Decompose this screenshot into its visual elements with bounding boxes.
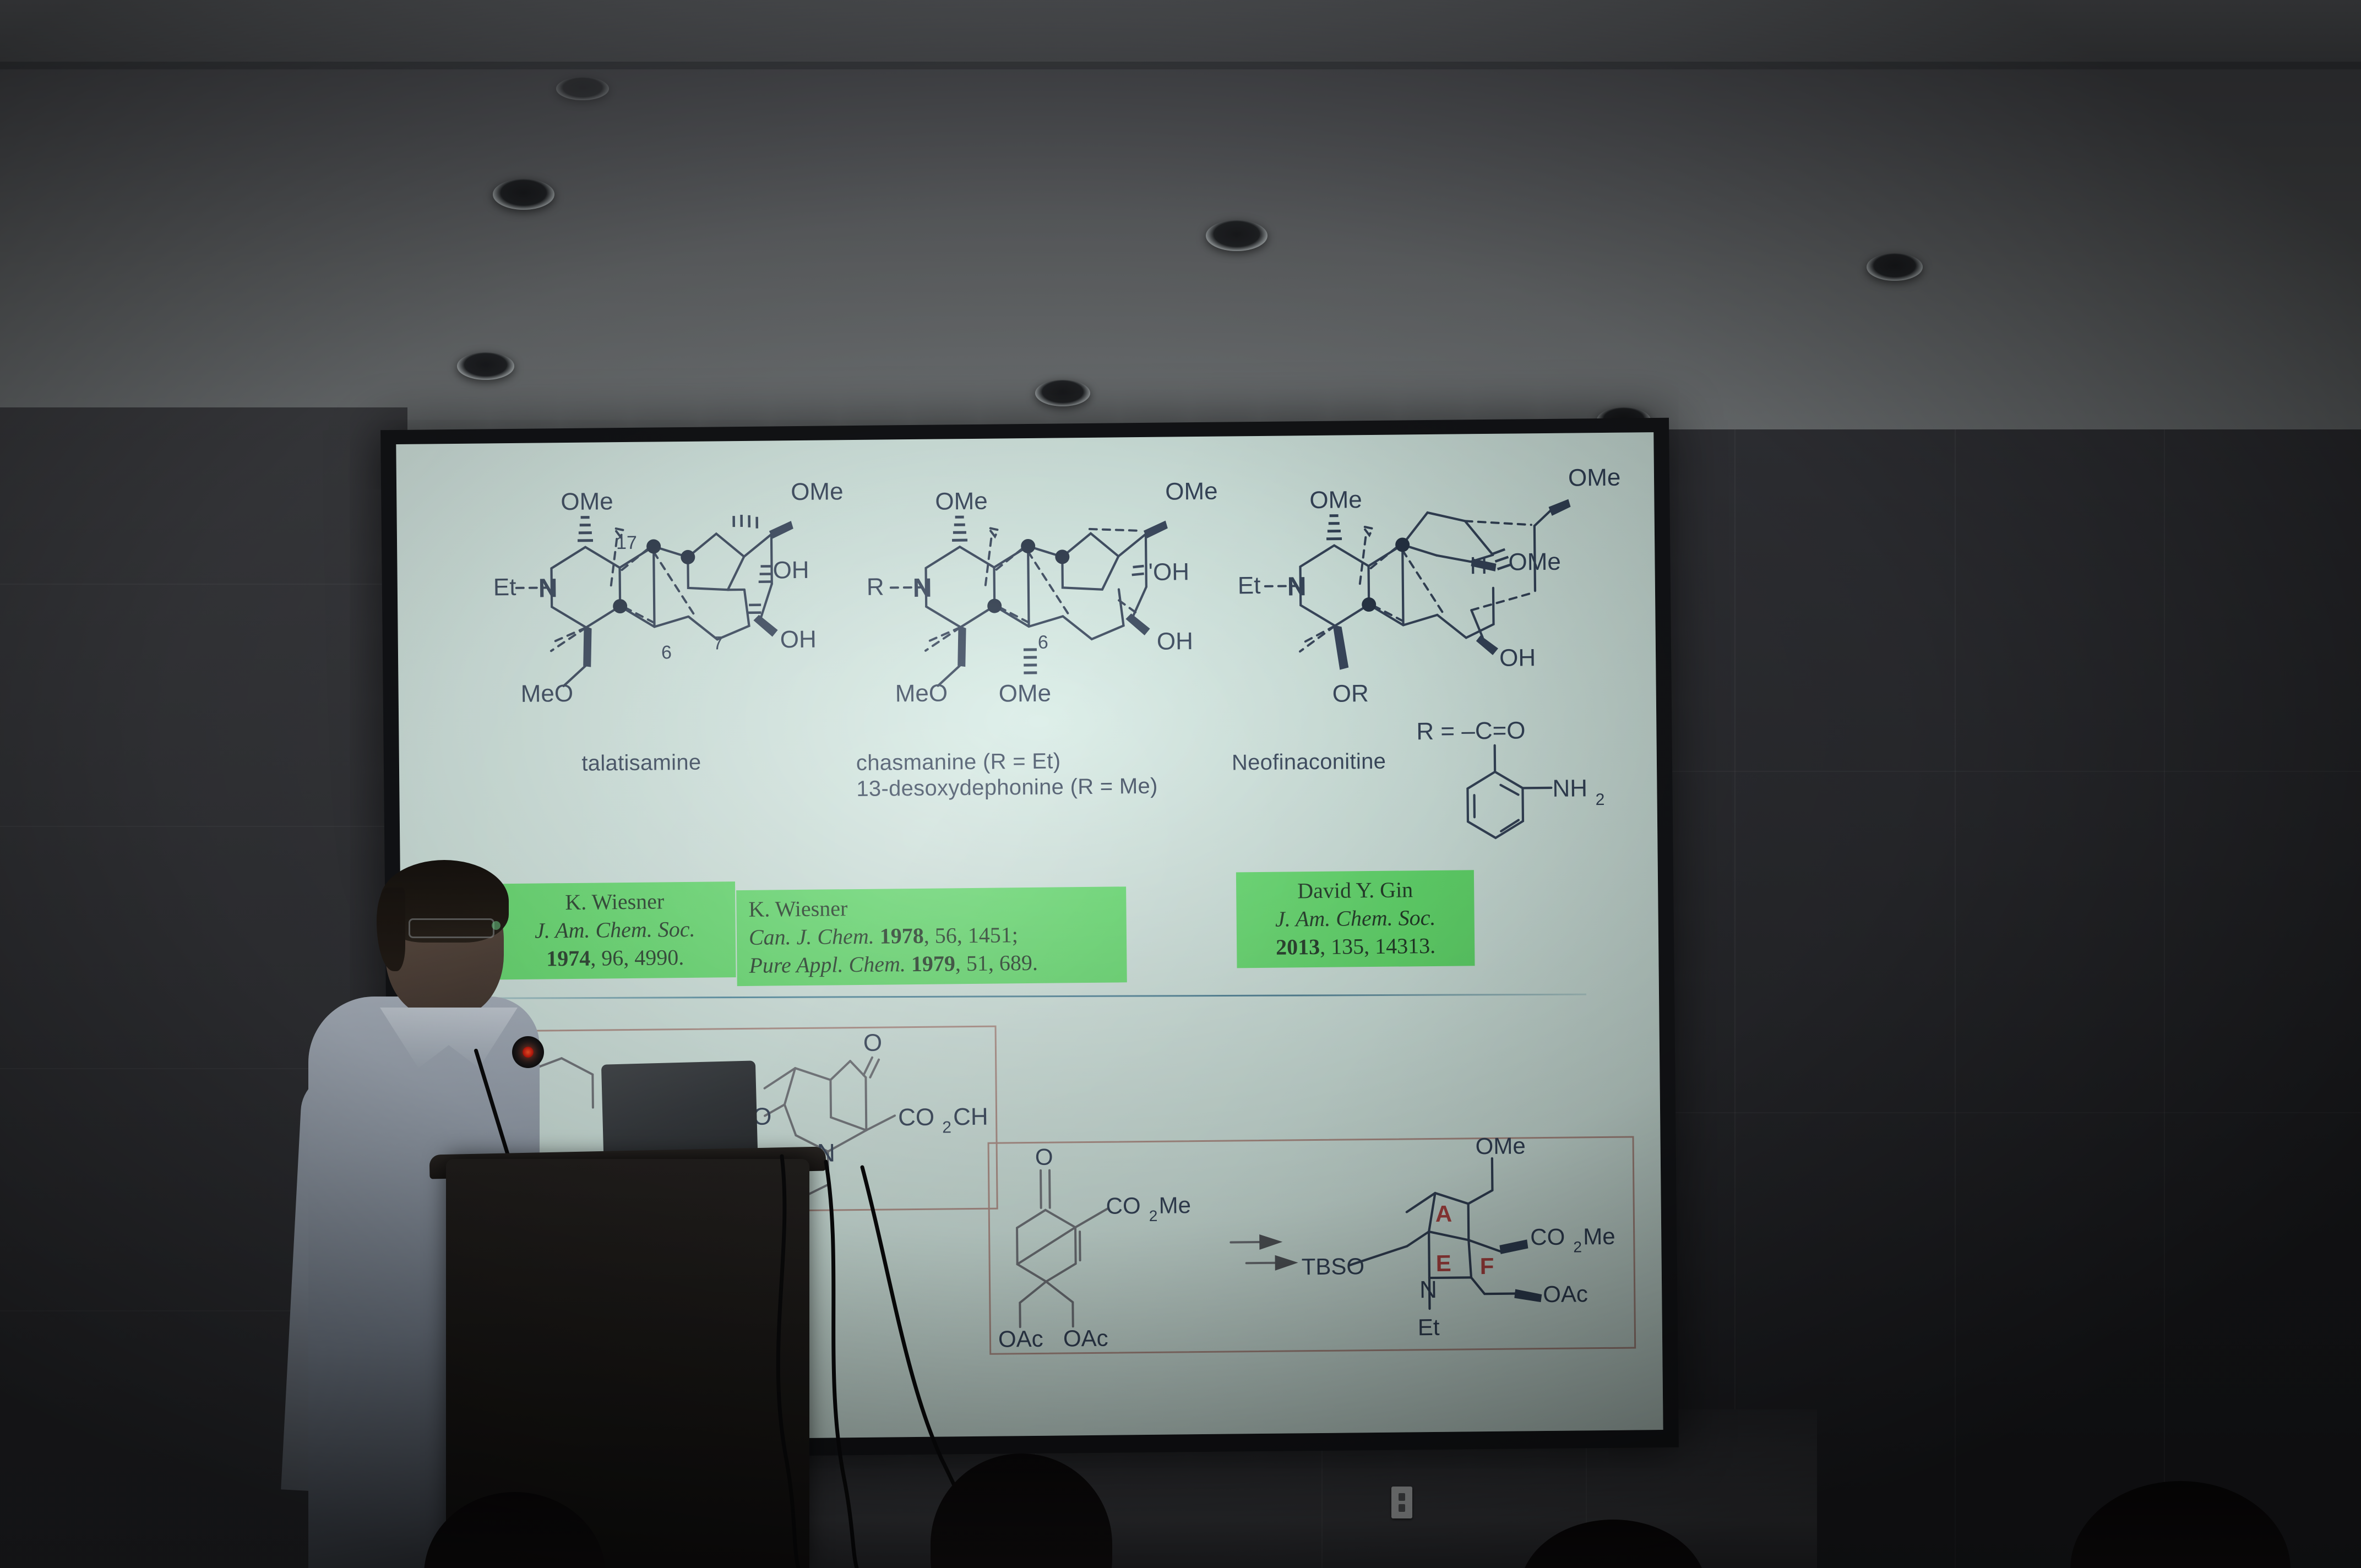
- svg-text:MeO: MeO: [520, 680, 573, 707]
- power-outlet-icon: [1391, 1487, 1412, 1518]
- ceiling-downlight-icon: [556, 77, 609, 100]
- svg-text:Et: Et: [493, 574, 516, 601]
- svg-text:OMe: OMe: [998, 680, 1051, 707]
- svg-text:CO: CO: [898, 1104, 934, 1131]
- citation-2-year-1: 1978: [879, 923, 923, 949]
- ring-label-E: E: [1435, 1250, 1451, 1276]
- svg-text:N: N: [1287, 572, 1307, 601]
- ceiling-downlight-icon: [1206, 220, 1267, 251]
- citation-1-page: 4990.: [634, 945, 684, 970]
- ceiling-downlight-icon: [1035, 380, 1090, 406]
- citation-2-page-2: 689.: [999, 950, 1038, 975]
- citation-3-year: 2013: [1276, 934, 1320, 960]
- svg-text:7: 7: [713, 633, 723, 654]
- svg-text:OMe: OMe: [1508, 548, 1561, 576]
- svg-text:CO: CO: [1106, 1193, 1140, 1219]
- citation-box-3: David Y. Gin J. Am. Chem. Soc. 2013, 135…: [1236, 870, 1475, 968]
- structure-talatisamine: Et N OMe OMe OH OH MeO 17 6 7 talatisami…: [485, 473, 840, 785]
- citation-3-author: David Y. Gin: [1248, 875, 1462, 906]
- citation-1-year: 1974: [546, 945, 590, 971]
- svg-text:OH: OH: [1157, 628, 1193, 655]
- svg-text:TBSO: TBSO: [1302, 1253, 1365, 1280]
- svg-text:CO: CO: [1530, 1224, 1565, 1250]
- svg-text:N: N: [538, 574, 558, 603]
- citation-3-volume: 135: [1331, 934, 1364, 959]
- svg-text:OMe: OMe: [1165, 478, 1218, 505]
- chasmanine-label-line2: 13-desoxydephonine (R = Me): [856, 773, 1209, 802]
- citation-2-page-1: 1451;: [967, 922, 1018, 948]
- svg-text:O: O: [1035, 1144, 1053, 1170]
- molecule-name-talatisamine: talatisamine: [520, 749, 763, 777]
- structure-neofinaconitine: Et N OMe OMe OMe H OH OR Neofinaconitine: [1233, 471, 1622, 805]
- citation-2-journal-2: Pure Appl. Chem.: [749, 951, 906, 978]
- svg-text:2: 2: [1595, 791, 1604, 809]
- svg-text:'OH: 'OH: [1148, 558, 1189, 586]
- svg-text:OAc: OAc: [1063, 1325, 1108, 1352]
- citation-3-journal: J. Am. Chem. Soc.: [1248, 903, 1462, 934]
- svg-text:Me: Me: [1583, 1223, 1615, 1250]
- svg-text:2: 2: [1573, 1238, 1582, 1255]
- svg-text:Me: Me: [1158, 1192, 1191, 1218]
- svg-text:CH: CH: [953, 1103, 988, 1131]
- svg-text:MeO: MeO: [895, 679, 948, 707]
- svg-text:OMe: OMe: [1309, 486, 1362, 514]
- chasmanine-skeleton: R N OMe OMe 'OH OH MeO OMe 6: [859, 473, 1214, 785]
- svg-text:H: H: [1470, 552, 1487, 579]
- citation-1-author: K. Wiesner: [506, 887, 723, 917]
- svg-text:O: O: [863, 1030, 883, 1057]
- svg-text:OR: OR: [1332, 680, 1369, 707]
- citation-2-volume-2: 51: [966, 950, 988, 975]
- citation-3-page: 14313.: [1375, 933, 1435, 959]
- r-group-definition: R = –C=O NH 2: [1412, 714, 1623, 864]
- citation-2-journal-1: Can. J. Chem.: [749, 924, 874, 950]
- citation-2-year-2: 1979: [911, 951, 955, 976]
- svg-text:OAc: OAc: [1543, 1281, 1588, 1307]
- svg-text:17: 17: [616, 532, 637, 553]
- slide-divider-line: [436, 994, 1586, 999]
- structure-chasmanine: R N OMe OMe 'OH OH MeO OMe 6 chasmanine …: [859, 473, 1215, 796]
- svg-text:OMe: OMe: [1475, 1136, 1525, 1159]
- svg-text:OH: OH: [773, 557, 809, 584]
- svg-text:OMe: OMe: [561, 488, 613, 515]
- citation-2-author: K. Wiesner: [748, 892, 1114, 924]
- svg-text:OMe: OMe: [935, 488, 988, 515]
- ring-label-A: A: [1435, 1201, 1452, 1227]
- ceiling-downlight-icon: [493, 179, 554, 210]
- citation-2-volume-1: 56: [934, 923, 956, 948]
- svg-text:NH: NH: [1552, 775, 1587, 802]
- citation-box-2: K. Wiesner Can. J. Chem. 1978, 56, 1451;…: [736, 886, 1127, 986]
- svg-text:OAc: OAc: [998, 1326, 1043, 1352]
- alkaloid-structures-row: Et N OMe OMe OH OH MeO 17 6 7 talatisami…: [396, 443, 1658, 874]
- citation-1-volume: 96: [601, 945, 623, 970]
- microphone-led-indicator: [523, 1047, 534, 1058]
- svg-text:OH: OH: [780, 626, 817, 654]
- svg-text:6: 6: [661, 642, 672, 663]
- ceiling-downlight-icon: [457, 352, 514, 380]
- ceiling-soffit: [0, 0, 2361, 66]
- citation-1-journal: J. Am. Chem. Soc.: [507, 915, 723, 945]
- lecture-photo-scene: Et N OMe OMe OH OH MeO 17 6 7 talatisami…: [0, 0, 2361, 1568]
- ceiling-edge-line: [0, 62, 2361, 69]
- svg-text:R: R: [867, 574, 884, 601]
- svg-text:OMe: OMe: [1568, 464, 1621, 492]
- svg-text:6: 6: [1038, 632, 1048, 653]
- svg-text:2: 2: [1149, 1207, 1158, 1224]
- talatisamine-skeleton: Et N OMe OMe OH OH MeO 17 6 7: [485, 473, 840, 785]
- svg-text:N: N: [913, 574, 932, 603]
- wall-right: [1668, 429, 2361, 1568]
- svg-text:OH: OH: [1499, 644, 1536, 672]
- eyeglasses-icon: [409, 918, 494, 938]
- molecule-name-chasmanine: chasmanine (R = Et) 13-desoxydephonine (…: [856, 747, 1209, 803]
- svg-text:Et: Et: [1238, 572, 1261, 599]
- r-definition-text: R = –C=O: [1416, 717, 1526, 745]
- svg-text:2: 2: [942, 1118, 951, 1136]
- chasmanine-label-line1: chasmanine (R = Et): [856, 747, 1209, 776]
- svg-text:OMe: OMe: [791, 478, 844, 505]
- scheme-bottom-drawing: O CO 2 Me OAc OAc: [988, 1136, 1633, 1352]
- ceiling-downlight-icon: [1867, 253, 1923, 281]
- svg-text:Et: Et: [1418, 1314, 1440, 1340]
- ring-label-F: F: [1480, 1253, 1494, 1279]
- citation-1-volpage: ,: [590, 945, 601, 970]
- svg-text:N: N: [1419, 1276, 1437, 1303]
- citation-box-1: K. Wiesner J. Am. Chem. Soc. 1974, 96, 4…: [494, 881, 736, 980]
